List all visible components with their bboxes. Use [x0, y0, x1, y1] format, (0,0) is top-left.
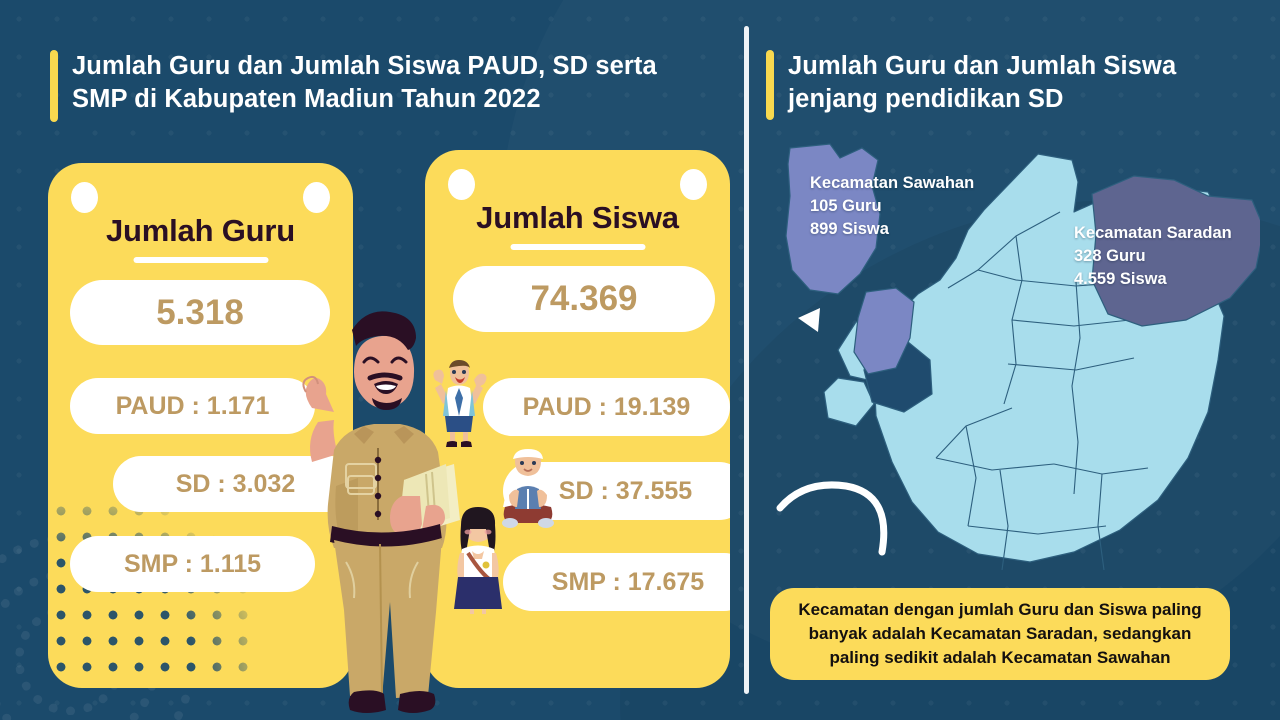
map-arrow-path: [780, 485, 884, 552]
card-punch-hole-right: [680, 169, 707, 200]
siswa-smp-value: SMP : 17.675: [503, 553, 730, 611]
infographic-root: Jumlah Guru dan Jumlah Siswa PAUD, SD se…: [0, 0, 1280, 720]
siswa-sd-value: SD : 37.555: [503, 462, 730, 520]
panel-divider: [744, 26, 749, 694]
card-title-underline: [133, 257, 268, 263]
card-jumlah-siswa: Jumlah Siswa 74.369 PAUD : 19.139 SD : 3…: [425, 150, 730, 688]
card-dot-pattern: [48, 498, 263, 688]
siswa-total-value: 74.369: [453, 266, 715, 332]
title-accent-bar: [50, 50, 58, 122]
right-panel-title: Jumlah Guru dan Jumlah Siswa jenjang pen…: [766, 50, 1176, 120]
summary-note-text: Kecamatan dengan jumlah Guru dan Siswa p…: [798, 598, 1201, 670]
summary-note-box: Kecamatan dengan jumlah Guru dan Siswa p…: [770, 588, 1230, 680]
map-label-sawahan: Kecamatan Sawahan 105 Guru 899 Siswa: [810, 172, 974, 240]
map-label-saradan: Kecamatan Saradan 328 Guru 4.559 Siswa: [1074, 222, 1232, 290]
card-title-guru: Jumlah Guru: [48, 213, 353, 249]
right-panel-title-text: Jumlah Guru dan Jumlah Siswa jenjang pen…: [788, 50, 1176, 120]
card-punch-hole-left: [71, 182, 98, 213]
left-panel-title: Jumlah Guru dan Jumlah Siswa PAUD, SD se…: [50, 50, 657, 122]
map-arrow-head: [798, 308, 820, 332]
left-panel-title-text: Jumlah Guru dan Jumlah Siswa PAUD, SD se…: [72, 50, 657, 122]
card-punch-hole-left: [448, 169, 475, 200]
siswa-paud-value: PAUD : 19.139: [483, 378, 730, 436]
card-title-siswa: Jumlah Siswa: [425, 200, 730, 236]
title-accent-bar: [766, 50, 774, 120]
guru-smp-value: SMP : 1.115: [70, 536, 315, 592]
guru-sd-value: SD : 3.032: [113, 456, 353, 512]
card-title-underline: [510, 244, 645, 250]
card-jumlah-guru: Jumlah Guru 5.318 PAUD : 1.171 SD : 3.03…: [48, 163, 353, 688]
guru-paud-value: PAUD : 1.171: [70, 378, 315, 434]
guru-total-value: 5.318: [70, 280, 330, 345]
card-punch-hole-right: [303, 182, 330, 213]
